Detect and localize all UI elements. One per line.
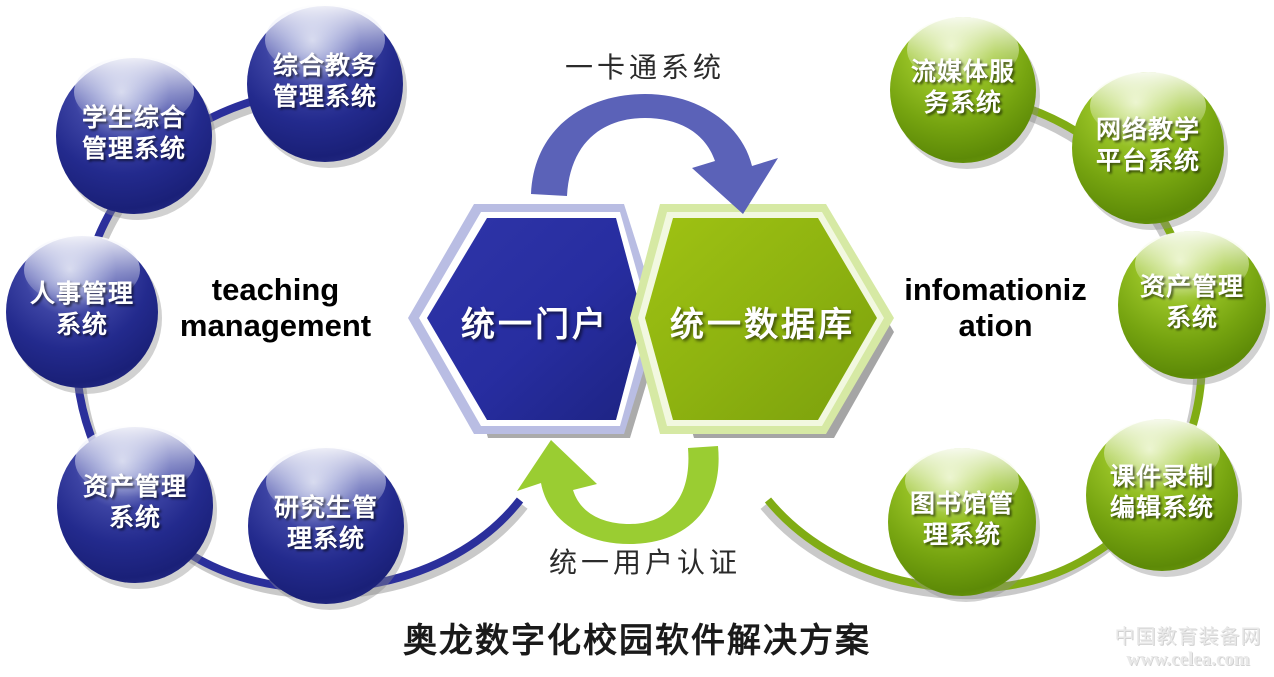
hexagon-portal[interactable] (408, 204, 662, 438)
hexagon-database[interactable] (630, 204, 894, 438)
node-sphere-asset-left[interactable] (57, 425, 217, 589)
node-sphere-elearning[interactable] (1072, 72, 1228, 230)
arrow-label-onecard: 一卡通系统 (515, 46, 775, 86)
caption-teaching-management: teaching management (168, 272, 383, 344)
node-sphere-courseware[interactable] (1086, 419, 1242, 577)
page-title: 奥龙数字化校园软件解决方案 (337, 613, 937, 662)
arrow-label-auth: 统一用户认证 (500, 541, 790, 581)
node-sphere-streaming[interactable] (890, 17, 1040, 169)
node-sphere-hr[interactable] (6, 235, 162, 394)
node-sphere-asset-right[interactable] (1118, 231, 1270, 385)
node-sphere-student[interactable] (56, 56, 216, 220)
node-sphere-academic[interactable] (247, 4, 407, 168)
diagram-canvas: 学生综合 管理系统 综合教务 管理系统 人事管理 系统 资产管理 系统 研究生管… (0, 0, 1274, 677)
arrow-top-onecard (531, 94, 778, 214)
arrow-bottom-auth (517, 440, 719, 544)
caption-informationization: infomationiz ation (893, 272, 1098, 344)
